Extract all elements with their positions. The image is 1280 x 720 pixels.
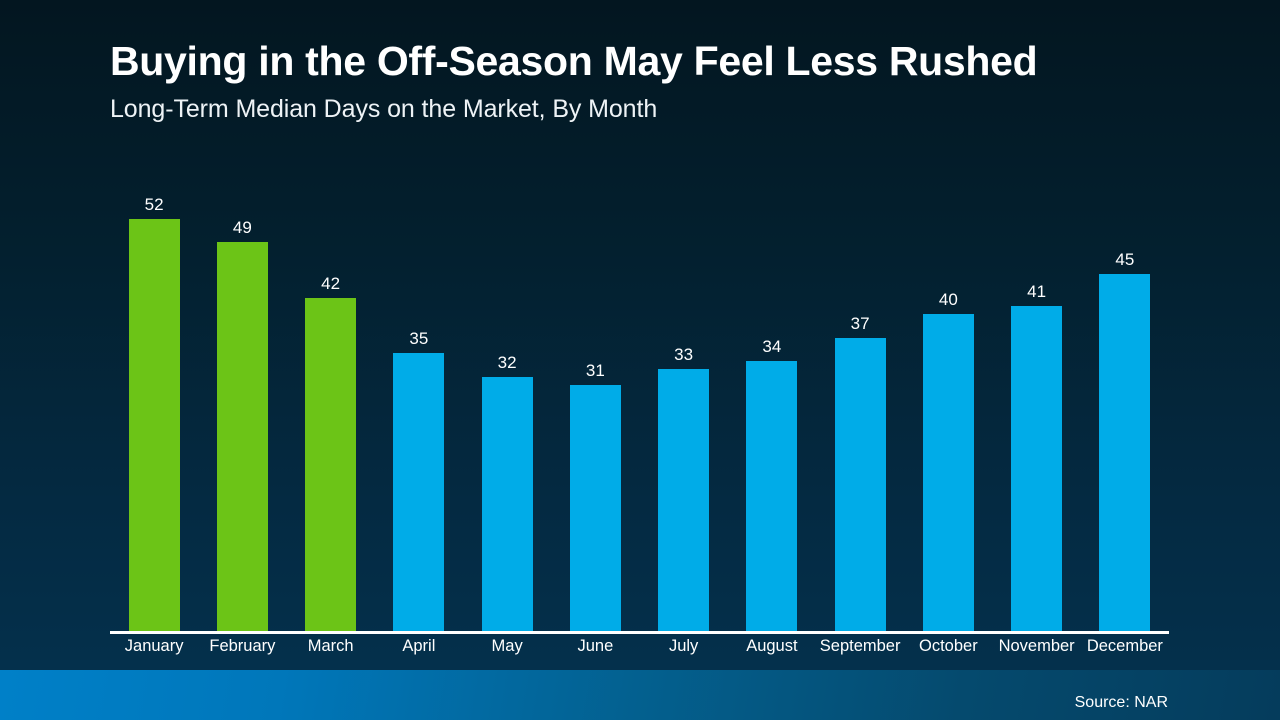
bar-slot[interactable]: 45 (1081, 163, 1169, 631)
x-axis-tick-label: June (551, 637, 639, 656)
bar-value-label: 45 (1115, 251, 1134, 268)
footer-bar: Source: NAR (0, 670, 1280, 720)
bar-value-label: 35 (409, 330, 428, 347)
x-axis-tick-label: October (904, 637, 992, 656)
x-axis-tick-label: May (463, 637, 551, 656)
bar-value-label: 33 (674, 346, 693, 363)
bar-rect[interactable] (835, 338, 886, 631)
bar-value-label: 42 (321, 275, 340, 292)
bar-rect[interactable] (305, 298, 356, 631)
bar-rect[interactable] (217, 242, 268, 631)
bar-series: 524942353231333437404145 (110, 163, 1169, 631)
bar-slot[interactable]: 37 (816, 163, 904, 631)
bar-slot[interactable]: 40 (904, 163, 992, 631)
bar-value-label: 41 (1027, 283, 1046, 300)
bar-value-label: 40 (939, 291, 958, 308)
bar-rect[interactable] (746, 361, 797, 631)
x-axis-tick-label: January (110, 637, 198, 656)
bar-slot[interactable]: 41 (993, 163, 1081, 631)
bar-slot[interactable]: 52 (110, 163, 198, 631)
x-axis-tick-label: April (375, 637, 463, 656)
x-axis-tick-label: July (640, 637, 728, 656)
x-axis-tick-label: December (1081, 637, 1169, 656)
source-attribution: Source: NAR (1075, 694, 1168, 712)
chart-slide: Buying in the Off-Season May Feel Less R… (0, 0, 1280, 720)
bar-slot[interactable]: 34 (728, 163, 816, 631)
bar-value-label: 31 (586, 362, 605, 379)
bar-slot[interactable]: 33 (640, 163, 728, 631)
bar-value-label: 34 (762, 338, 781, 355)
bar-slot[interactable]: 31 (551, 163, 639, 631)
x-axis-tick-label: March (287, 637, 375, 656)
bar-rect[interactable] (393, 353, 444, 631)
chart-subtitle: Long-Term Median Days on the Market, By … (110, 95, 1210, 124)
bar-rect[interactable] (482, 377, 533, 631)
page-title: Buying in the Off-Season May Feel Less R… (110, 40, 1210, 83)
bar-rect[interactable] (129, 219, 180, 631)
bar-value-label: 37 (851, 315, 870, 332)
x-axis-tick-label: November (993, 637, 1081, 656)
x-axis-tick-label: August (728, 637, 816, 656)
bar-value-label: 52 (145, 196, 164, 213)
bar-slot[interactable]: 32 (463, 163, 551, 631)
x-axis-category-labels: JanuaryFebruaryMarchAprilMayJuneJulyAugu… (110, 637, 1169, 656)
bar-rect[interactable] (658, 369, 709, 631)
bar-slot[interactable]: 49 (198, 163, 286, 631)
chart-header: Buying in the Off-Season May Feel Less R… (110, 40, 1210, 124)
bar-rect[interactable] (1011, 306, 1062, 631)
bar-value-label: 32 (498, 354, 517, 371)
bar-rect[interactable] (923, 314, 974, 631)
x-axis-line (110, 631, 1169, 634)
bar-rect[interactable] (570, 385, 621, 631)
x-axis-tick-label: February (198, 637, 286, 656)
bar-value-label: 49 (233, 219, 252, 236)
bar-chart-plot-area: 524942353231333437404145 (110, 160, 1170, 634)
x-axis-tick-label: September (816, 637, 904, 656)
bar-slot[interactable]: 42 (287, 163, 375, 631)
bar-slot[interactable]: 35 (375, 163, 463, 631)
bar-rect[interactable] (1099, 274, 1150, 631)
